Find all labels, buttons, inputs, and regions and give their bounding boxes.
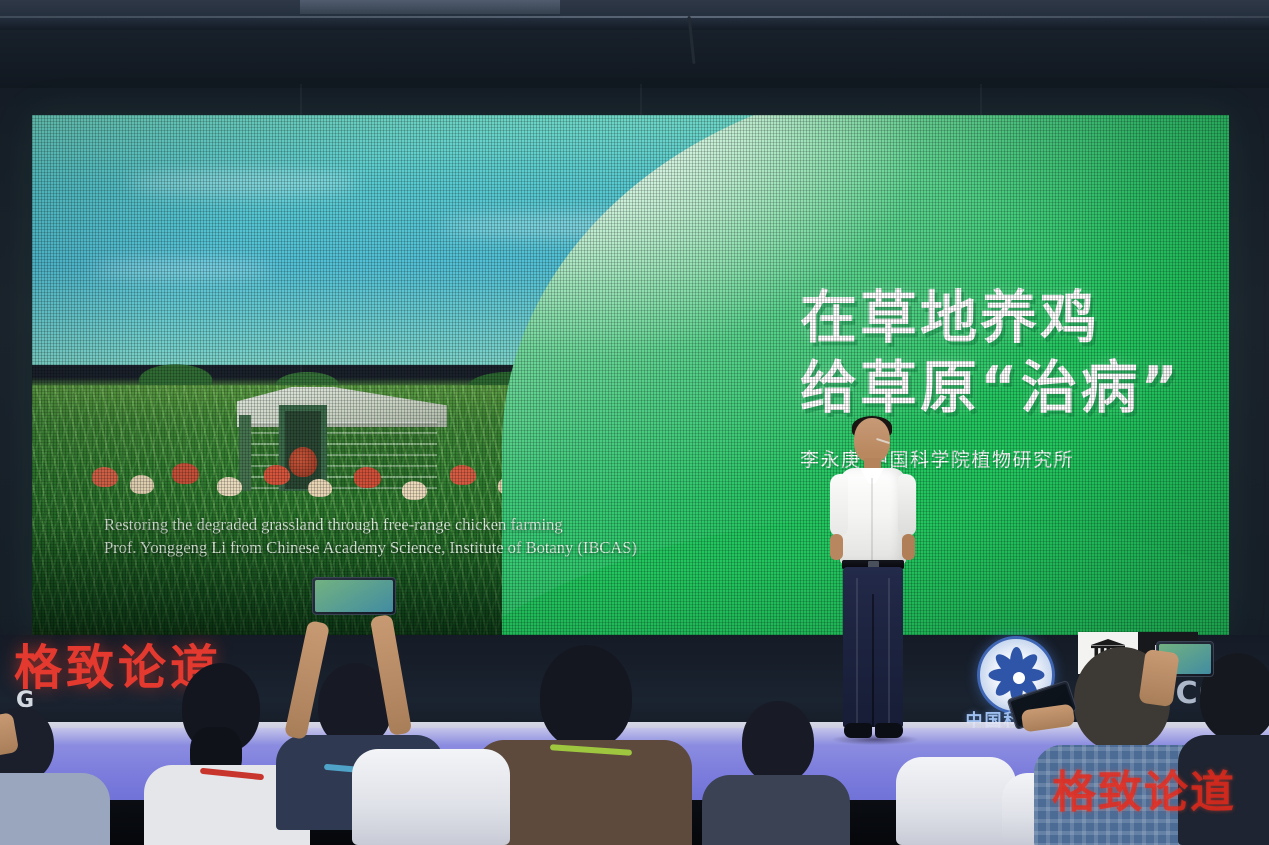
speaker-presenter	[818, 418, 928, 750]
chicken	[308, 479, 332, 497]
gezhi-watermark: 格致论道	[1052, 756, 1236, 820]
venue-ceiling	[0, 0, 1269, 30]
gezhi-brand-logo: 格致论道 G	[14, 628, 224, 728]
led-presentation-screen: 在草地养鸡 给草原“治病” 李永庚·中国科学院植物研究所 Restoring t…	[32, 115, 1229, 635]
cas-emblem-icon	[977, 636, 1055, 714]
chinese-academy-of-sciences-logo: 中国科学院 CHINESE ACADEMY OF SCIENCES	[955, 636, 1071, 734]
chicken-in-doorway	[289, 447, 317, 477]
slide-caption-line-2: Prof. Yonggeng Li from Chinese Academy S…	[104, 536, 804, 559]
presentation-slide: 在草地养鸡 给草原“治病” 李永庚·中国科学院植物研究所 Restoring t…	[32, 115, 1229, 635]
speaker-right-sleeve	[898, 474, 916, 536]
speaker-right-hand	[902, 534, 915, 560]
speaker-left-hand	[830, 534, 843, 560]
speaker-trouser-crease	[888, 578, 890, 724]
gezhi-brand-cn: 格致论道	[14, 628, 222, 698]
unesco-icon-row: MaB UNESCO	[1078, 632, 1198, 674]
mab-icon: MaB UNESCO	[1138, 632, 1198, 674]
speaker-shirt-placket	[871, 478, 873, 562]
conference-stage-photo: 在草地养鸡 给草原“治病” 李永庚·中国科学院植物研究所 Restoring t…	[0, 0, 1269, 845]
gezhi-brand-en: G	[16, 688, 37, 713]
chicken	[92, 467, 118, 487]
chicken	[130, 475, 154, 494]
mab-sublabel: UNESCO	[1156, 656, 1180, 662]
unesco-wordmark: UNESCO	[1080, 676, 1225, 711]
cas-emblem-core	[1010, 669, 1028, 687]
speaker-trouser-crease	[856, 578, 858, 724]
chicken	[217, 477, 242, 496]
shed-side-post	[239, 415, 251, 491]
unesco-temple-icon	[1078, 632, 1138, 674]
chicken	[450, 465, 476, 485]
unesco-mab-logo: MaB UNESCO UNESCO Man and the Biosphere …	[1078, 632, 1206, 734]
slide-caption-line-1: Restoring the degraded grassland through…	[104, 513, 804, 536]
venue-upper-wall	[0, 28, 1269, 88]
slide-caption-block: Restoring the degraded grassland through…	[104, 513, 804, 559]
slide-title-line-2: 给草原“治病”	[800, 353, 1229, 423]
speaker-left-shoe	[844, 723, 872, 738]
mab-label: MaB	[1154, 644, 1182, 656]
speaker-left-sleeve	[830, 474, 848, 536]
slide-title-line-1: 在草地养鸡	[800, 283, 1229, 353]
chicken	[264, 465, 290, 485]
unesco-programme-line-1: Man and the Biosphere	[1081, 708, 1169, 719]
speaker-leg-separation	[872, 594, 874, 727]
chicken	[402, 481, 427, 500]
ceiling-panel	[300, 0, 560, 14]
chicken	[172, 463, 199, 484]
chicken	[354, 467, 381, 488]
speaker-right-shoe	[875, 723, 903, 738]
ceiling-cable	[0, 16, 1269, 18]
